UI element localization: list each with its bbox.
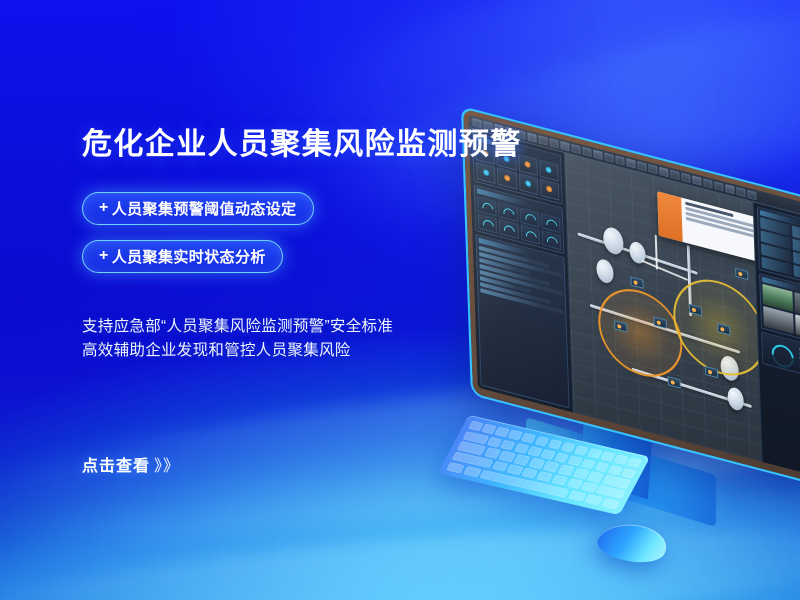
key[interactable] xyxy=(608,465,623,476)
detail-row xyxy=(793,265,800,284)
feature-pill-list: + 人员聚集预警阈值动态设定 + 人员聚集实时状态分析 xyxy=(82,192,512,273)
key[interactable] xyxy=(514,443,529,454)
gauge-ring xyxy=(520,225,540,245)
toolbar-icon[interactable] xyxy=(681,173,690,183)
key[interactable] xyxy=(506,464,523,475)
promo-banner: 危化企业人员聚集风险监测预警 + 人员聚集预警阈值动态设定 + 人员聚集实时状态… xyxy=(0,0,800,600)
key[interactable] xyxy=(547,439,562,450)
toolbar-icon[interactable] xyxy=(615,155,624,165)
key[interactable] xyxy=(581,458,596,469)
plant-3d-scene[interactable] xyxy=(565,153,762,462)
key[interactable] xyxy=(487,437,502,448)
key[interactable] xyxy=(621,468,636,479)
description-line-1: 支持应急部“人员聚集风险监测预警”安全标准 xyxy=(82,315,512,339)
plus-icon: + xyxy=(99,199,109,217)
key[interactable] xyxy=(567,455,582,466)
key[interactable] xyxy=(581,482,598,493)
feature-pill-label: 人员聚集实时状态分析 xyxy=(112,246,266,267)
key[interactable] xyxy=(527,446,542,457)
key[interactable] xyxy=(468,421,483,432)
key[interactable] xyxy=(536,471,553,482)
key[interactable] xyxy=(484,448,501,459)
key[interactable] xyxy=(561,442,576,453)
key[interactable] xyxy=(499,451,516,462)
toolbar-icon[interactable] xyxy=(604,152,613,162)
key[interactable] xyxy=(627,457,642,468)
toolbar-icon[interactable] xyxy=(714,181,723,191)
toolbar-icon[interactable] xyxy=(736,187,745,197)
key[interactable] xyxy=(541,449,556,460)
toolbar-icon[interactable] xyxy=(747,190,756,200)
cta-label: 点击查看 xyxy=(82,458,150,475)
key[interactable] xyxy=(521,433,536,444)
plus-icon: + xyxy=(99,247,109,265)
key[interactable] xyxy=(558,465,575,476)
key[interactable] xyxy=(481,424,496,435)
key[interactable] xyxy=(573,468,590,479)
toolbar-icon[interactable] xyxy=(637,161,646,171)
status-tile[interactable] xyxy=(518,173,538,195)
feature-pill-realtime[interactable]: + 人员聚集实时状态分析 xyxy=(82,240,283,273)
key[interactable] xyxy=(587,472,604,483)
key[interactable] xyxy=(543,461,560,472)
chevron-right-icon: 》》 xyxy=(154,458,180,475)
feature-pill-label: 人员聚集预警阈值动态设定 xyxy=(112,198,297,219)
key[interactable] xyxy=(574,445,589,456)
key[interactable] xyxy=(614,454,629,465)
key[interactable] xyxy=(528,458,545,469)
alert-popup-header xyxy=(657,191,683,242)
description-line-2: 高效辅助企业发现和管控人员聚集风险 xyxy=(82,339,512,363)
key[interactable] xyxy=(495,427,510,438)
key[interactable] xyxy=(500,440,515,451)
key-ctrl[interactable] xyxy=(446,462,465,473)
key-arrow[interactable] xyxy=(568,490,587,501)
toolbar-icon[interactable] xyxy=(549,138,558,148)
toolbar-icon[interactable] xyxy=(472,118,481,128)
page-title: 危化企业人员聚集风险监测预警 xyxy=(82,128,512,162)
key[interactable] xyxy=(551,475,568,486)
key[interactable] xyxy=(491,461,508,472)
feature-pill-threshold[interactable]: + 人员聚集预警阈值动态设定 xyxy=(82,192,314,225)
key[interactable] xyxy=(514,454,531,465)
toolbar-icon[interactable] xyxy=(538,135,547,145)
key[interactable] xyxy=(508,430,523,441)
detail-key-value-grid xyxy=(760,217,800,283)
circular-gauge-widget xyxy=(761,332,800,382)
toolbar-icon[interactable] xyxy=(582,147,591,157)
key-alt[interactable] xyxy=(463,466,482,477)
toolbar-icon[interactable] xyxy=(626,158,635,168)
key[interactable] xyxy=(566,478,583,489)
key[interactable] xyxy=(594,462,609,473)
toolbar-icon[interactable] xyxy=(659,167,668,177)
cta-link[interactable]: 点击查看》》 xyxy=(82,452,180,476)
key[interactable] xyxy=(521,468,538,479)
toolbar-icon[interactable] xyxy=(560,141,569,151)
toolbar-icon[interactable] xyxy=(593,150,602,160)
key-arrow[interactable] xyxy=(585,494,604,505)
key[interactable] xyxy=(600,451,615,462)
camera-feed-thumbnail[interactable] xyxy=(795,314,800,342)
toolbar-icon[interactable] xyxy=(703,178,712,188)
gauge-ring xyxy=(541,230,561,250)
toolbar-icon[interactable] xyxy=(692,175,701,185)
key[interactable] xyxy=(554,452,569,463)
key[interactable] xyxy=(534,436,549,447)
toolbar-icon[interactable] xyxy=(527,132,536,142)
key-arrow[interactable] xyxy=(601,498,620,509)
hero-copy: 危化企业人员聚集风险监测预警 + 人员聚集预警阈值动态设定 + 人员聚集实时状态… xyxy=(82,128,512,363)
toolbar-icon[interactable] xyxy=(670,170,679,180)
status-tile[interactable] xyxy=(540,179,560,201)
toolbar-icon[interactable] xyxy=(725,184,734,194)
description: 支持应急部“人员聚集风险监测预警”安全标准 高效辅助企业发现和管控人员聚集风险 xyxy=(82,315,512,363)
toolbar-icon[interactable] xyxy=(648,164,657,174)
key[interactable] xyxy=(587,448,602,459)
toolbar-icon[interactable] xyxy=(571,144,580,154)
